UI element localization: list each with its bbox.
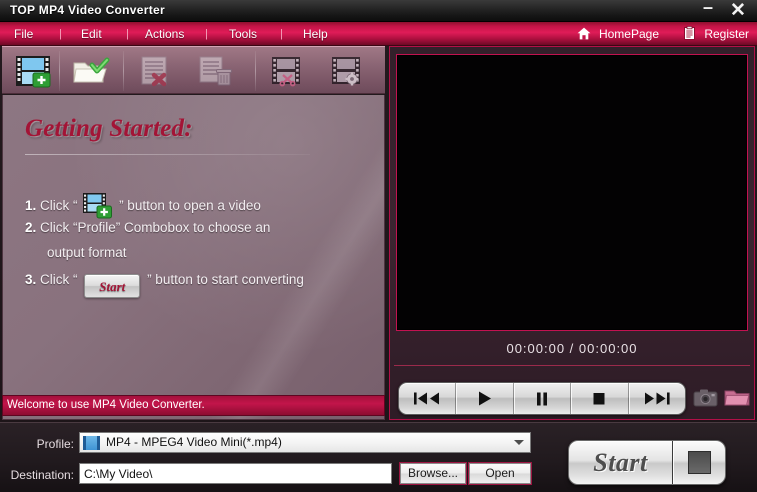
getting-started-step-3: 3. Click “ Start ” button to start conve… [25,272,304,298]
toolbar-divider [123,51,124,91]
folder-icon[interactable] [724,388,750,407]
toolbar-open-folder-button[interactable] [68,53,114,89]
chevron-down-icon[interactable] [514,440,524,445]
toolbar-trim-button[interactable] [264,53,310,89]
title-bar: TOP MP4 Video Converter – ✕ [0,0,757,22]
home-icon [577,27,591,46]
getting-started-step-1: 1. Click “ [25,193,261,219]
video-preview[interactable] [396,54,748,331]
register-link[interactable]: Register [684,25,749,44]
profile-label: Profile: [0,437,74,451]
stop-button[interactable] [571,383,628,414]
camera-icon[interactable] [693,388,718,408]
profile-selected-value: MP4 - MPEG4 Video Mini(*.mp4) [106,435,282,449]
register-label: Register [704,27,749,41]
toolbar-divider [59,51,60,91]
step-text-pre: Click “ [40,272,78,287]
close-button[interactable]: ✕ [725,1,751,21]
window-title: TOP MP4 Video Converter [10,3,165,17]
open-button[interactable]: Open [469,463,531,484]
toolbar-remove-item-button[interactable] [132,53,178,89]
menu-separator: | [280,27,281,41]
stop-square-icon [688,451,711,474]
menu-item-edit[interactable]: Edit [81,25,102,43]
toolbar-clear-list-button[interactable] [192,53,238,89]
menu-item-file[interactable]: File [14,25,33,43]
start-button-label: Start [593,448,648,478]
getting-started-panel: Getting Started: 1. Click “ [2,95,385,420]
next-button[interactable] [629,383,685,414]
clipboard-icon [684,26,696,46]
step-text-line1: Click “Profile” Combobox to choose an [40,220,270,235]
menu-item-tools[interactable]: Tools [229,25,257,43]
status-message: Welcome to use MP4 Video Converter. [7,399,205,411]
getting-started-divider [25,154,310,155]
player-panel: 00:00:00 / 00:00:00 [389,46,755,420]
stop-conversion-button[interactable] [673,441,725,484]
profile-format-icon [83,436,100,450]
menu-separator: | [126,27,127,41]
step-number: 2. [25,220,36,235]
menu-separator: | [59,27,60,41]
profile-combobox[interactable]: MP4 - MPEG4 Video Mini(*.mp4) [79,432,531,453]
minimize-button[interactable]: – [695,1,721,21]
toolbar-divider [255,51,256,91]
step-text-pre: Click “ [40,198,78,213]
transport-controls [398,382,686,415]
start-chip: Start [84,274,140,298]
pause-button[interactable] [514,383,571,414]
status-bar: Welcome to use MP4 Video Converter. [2,395,385,416]
time-display: 00:00:00 / 00:00:00 [396,335,748,363]
homepage-label: HomePage [599,27,659,41]
destination-input[interactable] [79,463,392,484]
menu-item-help[interactable]: Help [303,25,328,43]
start-control-group: Start [568,440,726,485]
toolbar [2,46,385,94]
getting-started-title: Getting Started: [25,115,193,143]
start-button[interactable]: Start [569,441,673,484]
toolbar-video-settings-button[interactable] [324,53,370,89]
step-text-post: ” button to start converting [147,272,304,287]
getting-started-step-2: 2. Click “Profile” Combobox to choose an [25,220,270,235]
browse-button[interactable]: Browse... [400,463,466,484]
toolbar-add-video-button[interactable] [10,53,56,89]
menu-bar: File | Edit | Actions | Tools | Help Hom… [0,22,757,46]
step-number: 3. [25,272,36,287]
getting-started-step-2-line2: output format [47,245,127,260]
player-divider [394,365,750,366]
previous-button[interactable] [399,383,456,414]
step-number: 1. [25,198,36,213]
step-text-line2: output format [47,245,127,260]
destination-label: Destination: [0,468,74,482]
homepage-link[interactable]: HomePage [577,25,659,44]
application-window: TOP MP4 Video Converter – ✕ File | Edit … [0,0,757,492]
film-add-icon [83,193,113,219]
step-text-post: ” button to open a video [119,198,261,213]
play-button[interactable] [456,383,513,414]
menu-separator: | [205,27,206,41]
menu-item-actions[interactable]: Actions [145,25,184,43]
